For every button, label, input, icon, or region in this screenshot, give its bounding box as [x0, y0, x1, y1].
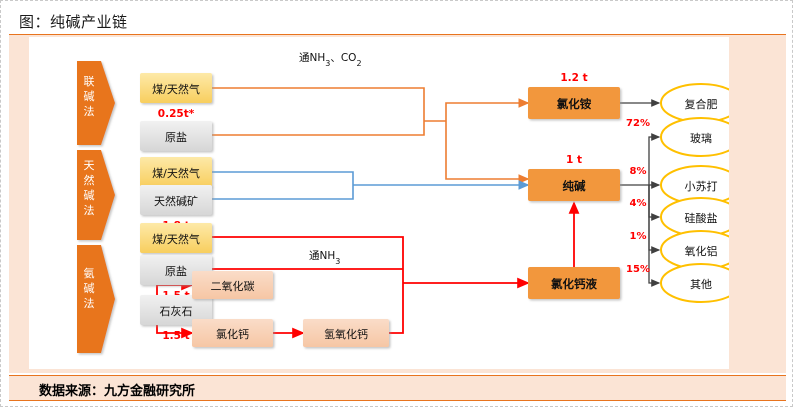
route-label-1b: 然	[84, 173, 95, 187]
input-value-0: 0.25t*	[158, 108, 195, 120]
data-source-label: 数据来源：九方金融研究所	[39, 380, 195, 399]
product-node-0[interactable]: 氯化铵	[528, 87, 620, 119]
use-share-4: 1%	[630, 231, 647, 242]
use-node-0[interactable]: 复合肥	[661, 84, 729, 122]
use-share-3: 4%	[630, 198, 647, 209]
diagram-canvas: 联 碱 法 天 然 碱 法 氨 碱 法	[29, 37, 729, 369]
route-label-1: 天	[84, 159, 95, 172]
use-label-3: 硅酸盐	[685, 211, 718, 225]
annotation-0-text: 通NH	[299, 52, 325, 64]
route-label-0b: 碱	[84, 90, 95, 103]
annotation-0-text2: 、CO	[330, 52, 356, 64]
route-label-2c: 法	[84, 296, 95, 310]
route-label-0c: 法	[84, 104, 95, 118]
product-label-0: 氯化铵	[557, 97, 592, 111]
input-label-6: 石灰石	[160, 304, 193, 318]
route-label-1c: 碱	[84, 189, 95, 202]
use-label-5: 其他	[690, 278, 712, 291]
route-chevron-lianjian[interactable]: 联 碱 法	[77, 61, 115, 145]
figure-title-bar: 图：纯碱产业链	[9, 7, 786, 35]
input-node-2[interactable]: 煤/天然气	[140, 157, 212, 187]
intermediate-label-1: 氯化钙	[216, 327, 249, 341]
use-label-4: 氧化铝	[685, 244, 718, 258]
route-label-2: 氨	[84, 267, 95, 280]
product-label-1: 纯碱	[563, 179, 586, 193]
use-label-0: 复合肥	[685, 97, 718, 111]
flowchart-svg: 联 碱 法 天 然 碱 法 氨 碱 法	[29, 37, 729, 369]
input-label-4: 煤/天然气	[152, 232, 200, 246]
input-node-0[interactable]: 煤/天然气	[140, 73, 212, 103]
input-label-2: 煤/天然气	[152, 166, 200, 180]
intermediate-node-0[interactable]: 二氧化碳	[192, 271, 273, 299]
annotation-1-text: 通NH	[309, 250, 335, 262]
use-node-1[interactable]: 玻璃	[661, 118, 729, 156]
figure-page: 图：纯碱产业链	[0, 0, 793, 407]
edges-products-uses	[620, 103, 659, 283]
intermediate-node-2[interactable]: 氢氧化钙	[303, 319, 389, 347]
intermediate-label-2: 氢氧化钙	[324, 327, 368, 341]
product-value-1: 1 t	[566, 154, 582, 166]
figure-footer: 数据来源：九方金融研究所	[9, 375, 786, 401]
product-node-1[interactable]: 纯碱	[528, 169, 620, 201]
annotation-1-sub: 3	[335, 257, 340, 266]
intermediate-label-0: 二氧化碳	[211, 279, 255, 293]
use-share-2: 8%	[630, 166, 647, 177]
annotation-ammonia: 通NH3	[309, 250, 340, 266]
use-node-5[interactable]: 其他	[661, 264, 729, 302]
route-label-1d: 法	[84, 203, 95, 217]
product-value-0: 1.2 t	[560, 72, 587, 84]
input-label-1: 原盐	[165, 131, 187, 144]
input-node-1[interactable]: 原盐	[140, 121, 212, 151]
input-value-6: 1.5 t	[162, 330, 189, 342]
annotation-0-sub2: 2	[356, 59, 361, 68]
input-label-3: 天然碱矿	[154, 194, 198, 208]
use-label-2: 小苏打	[685, 179, 718, 193]
route-chevron-anjian[interactable]: 氨 碱 法	[77, 245, 115, 353]
product-node-2[interactable]: 氯化钙液	[528, 267, 620, 299]
use-share-1: 72%	[626, 118, 650, 129]
page-title: 图：纯碱产业链	[19, 11, 128, 32]
input-label-0: 煤/天然气	[152, 82, 200, 96]
route-chevron-tianranjian[interactable]: 天 然 碱 法	[77, 150, 115, 240]
intermediate-node-1[interactable]: 氯化钙	[192, 319, 273, 347]
use-label-1: 玻璃	[690, 131, 712, 145]
input-label-5: 原盐	[165, 265, 187, 278]
input-node-3[interactable]: 天然碱矿	[140, 185, 212, 215]
use-share-5: 15%	[626, 264, 650, 275]
route-label-2b: 碱	[84, 282, 95, 295]
input-node-4[interactable]: 煤/天然气	[140, 223, 212, 253]
product-label-2: 氯化钙液	[551, 277, 597, 291]
figure-panel: 联 碱 法 天 然 碱 法 氨 碱 法	[9, 35, 786, 373]
route-label-0: 联	[84, 75, 95, 88]
annotation-ammonia-co2: 通NH3、CO2	[299, 52, 362, 68]
